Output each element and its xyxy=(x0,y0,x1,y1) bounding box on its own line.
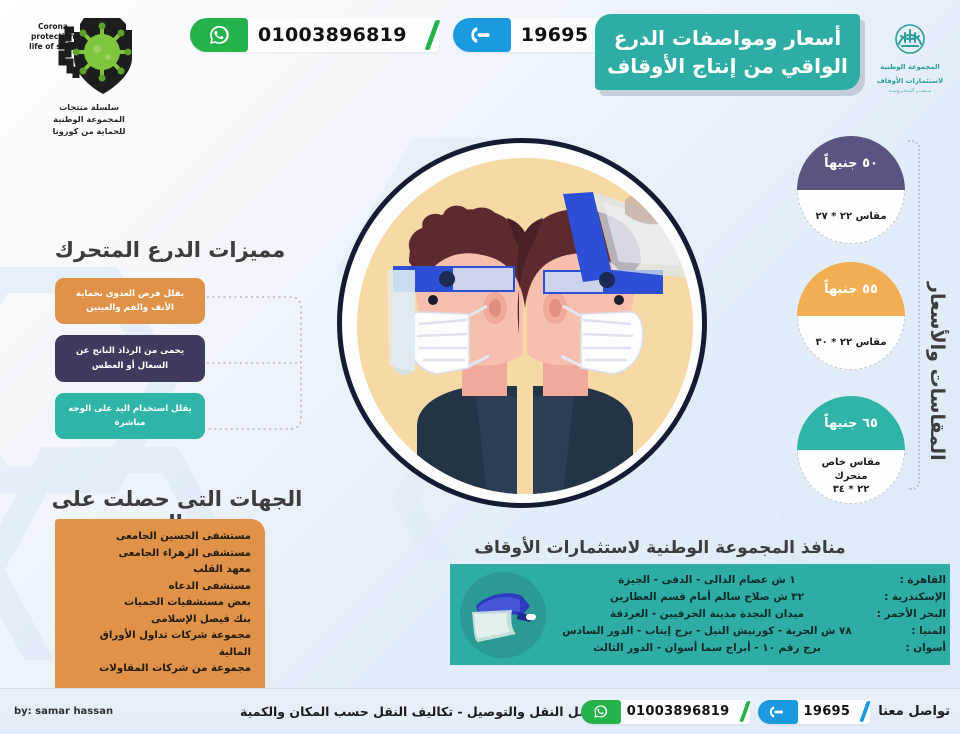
awqaf-logo: المجموعة الوطنية لاستثمارات الأوقاف مــص… xyxy=(866,22,954,94)
outlet-address: ٣٢ ش صلاح سالم أمام قسم العطارين xyxy=(550,589,864,606)
footer-whatsapp-number: 01003896819 xyxy=(621,704,734,719)
outlet-city: المنيا : xyxy=(864,623,946,640)
whatsapp-contact-chip[interactable]: 01003896819 xyxy=(190,18,439,52)
features-connector-lines xyxy=(205,285,335,445)
features-title: مميزات الدرع المتحرك xyxy=(40,238,300,262)
infographic-page: Corona protection life of style سلسلة من… xyxy=(0,0,960,734)
clients-list: مستشفى الحسين الجامعى مستشفى الزهراء الج… xyxy=(55,519,265,690)
whatsapp-icon xyxy=(190,18,248,52)
outlet-address: ١ ش عصام الدالى - الدقى - الجيزة xyxy=(550,572,864,589)
price-card: ٥٠ جنيهاً مقاس ٢٢ * ٢٧ xyxy=(797,136,905,244)
logo-tagline: Corona protection life of style xyxy=(16,22,90,52)
price-card-price: ٦٥ جنيهاً xyxy=(797,396,905,450)
feature-item: يقلل فرص العدوى بحماية الأنف والفم والعي… xyxy=(55,278,205,324)
features-list: يقلل فرص العدوى بحماية الأنف والفم والعي… xyxy=(55,278,205,450)
outlet-city: الإسكندرية : xyxy=(864,589,946,606)
footer-hotline-number: 19695 xyxy=(798,704,855,719)
list-item: بنك فيصل الإسلامى xyxy=(65,612,251,629)
whatsapp-number: 01003896819 xyxy=(248,24,413,46)
logo-tagline-line1: Corona xyxy=(16,22,90,32)
phone-icon xyxy=(453,18,511,52)
footer-contact-label: تواصل معنا xyxy=(878,704,950,719)
sizes-vertical-label-text: المقاسات والأسعار xyxy=(926,282,948,461)
table-row: البحر الأحمر : ميدان النجدة مدينة الحرفي… xyxy=(550,606,946,623)
price-card-spec-line3: ٢٢ * ٣٤ xyxy=(833,483,870,497)
price-rail-decor xyxy=(908,140,920,490)
table-row: المنيا : ٧٨ ش الحرية - كورنيش النيل - بر… xyxy=(550,623,946,640)
footer-credit: by: samar hassan xyxy=(14,706,113,717)
feature-item: يقلل استخدام اليد على الوجه مباشرة xyxy=(55,393,205,439)
outlet-address: ٧٨ ش الحرية - كورنيش النيل - برج إيتاب -… xyxy=(550,623,864,640)
price-card-spec: مقاس خاص متحرك ٢٢ * ٣٤ xyxy=(797,450,905,504)
awqaf-logo-line1: المجموعة الوطنية xyxy=(866,62,954,72)
price-card-price: ٥٠ جنيهاً xyxy=(797,136,905,190)
contact-bar: 01003896819 19695 xyxy=(190,18,620,52)
list-item: مستشفى الدعاه xyxy=(65,579,251,596)
outlets-box: القاهرة : ١ ش عصام الدالى - الدقى - الجي… xyxy=(450,564,950,665)
list-item: مستشفى الزهراء الجامعى xyxy=(65,546,251,563)
logo-arabic-text: سلسلة منتجات المجموعة الوطنية للحماية من… xyxy=(14,102,164,138)
list-item: مجموعة من شركات المقاولات xyxy=(65,661,251,678)
person-left xyxy=(387,206,533,494)
logo-tagline-line2: protection xyxy=(16,32,90,42)
footer-contact: 01003896819 19695 تواصل معنا xyxy=(581,700,950,724)
price-card-spec-line1: مقاس خاص xyxy=(822,456,881,470)
list-item: معهد القلب xyxy=(65,562,251,579)
footer-hotline-chip[interactable]: 19695 xyxy=(758,700,871,724)
awqaf-calligraphy-icon xyxy=(889,22,931,58)
outlets-title: منافذ المجموعة الوطنية لاستثمارات الأوقا… xyxy=(450,538,870,558)
feature-item-text: يقلل استخدام اليد على الوجه مباشرة xyxy=(65,402,195,430)
chip-slash-decor xyxy=(859,701,871,722)
list-item: بعض مستشفيات الحميات xyxy=(65,595,251,612)
chip-slash-decor xyxy=(424,20,440,50)
logo-arabic-line1: سلسلة منتجات xyxy=(14,102,164,114)
outlet-city: أسوان : xyxy=(864,640,946,657)
price-card-spec-line2: متحرك xyxy=(835,470,868,484)
two-people-with-face-shields-graphic xyxy=(357,158,693,494)
price-card-spec: مقاس ٢٢ * ٢٧ xyxy=(797,190,905,244)
outlet-city: القاهرة : xyxy=(864,572,946,589)
footer-bar: by: samar hassan السعر غير شامل النقل وا… xyxy=(0,688,960,734)
page-title-line1: أسعار ومواصفات الدرع xyxy=(607,24,848,52)
logo-arabic-line2: المجموعة الوطنية xyxy=(14,114,164,126)
table-row: القاهرة : ١ ش عصام الدالى - الدقى - الجي… xyxy=(550,572,946,589)
sizes-vertical-label: المقاسات والأسعار xyxy=(922,246,952,496)
logo-tagline-line3: life of style xyxy=(16,42,90,52)
price-card: ٦٥ جنيهاً مقاس خاص متحرك ٢٢ * ٣٤ xyxy=(797,396,905,504)
phone-icon xyxy=(758,700,798,724)
face-shield-icon xyxy=(460,572,546,658)
awqaf-logo-line2: لاستثمارات الأوقاف xyxy=(866,76,954,86)
chip-slash-decor xyxy=(739,701,751,722)
feature-item-text: يحمى من الرذاذ الناتج عن السعال أو العطس xyxy=(65,344,195,372)
feature-item: يحمى من الرذاذ الناتج عن السعال أو العطس xyxy=(55,335,205,381)
face-shield-illustration xyxy=(337,138,707,508)
price-card: ٥٥ جنيهاً مقاس ٢٢ * ٣٠ xyxy=(797,262,905,370)
price-card-spec-line1: مقاس ٢٢ * ٢٧ xyxy=(815,210,886,224)
table-row: أسوان : برج رقم ١٠ - أبراج سما أسوان - ا… xyxy=(550,640,946,657)
outlet-address: برج رقم ١٠ - أبراج سما أسوان - الدور الث… xyxy=(550,640,864,657)
person-right xyxy=(517,180,687,494)
price-card-spec: مقاس ٢٢ * ٣٠ xyxy=(797,316,905,370)
logo-arabic-line3: للحماية من كورونا xyxy=(14,126,164,138)
hotline-number: 19695 xyxy=(511,24,595,46)
whatsapp-icon xyxy=(581,700,621,724)
awqaf-logo-line3: مــصــر المـحـروسـة xyxy=(866,88,954,94)
outlet-address: ميدان النجدة مدينة الحرفيين - الغردقة xyxy=(550,606,864,623)
list-item: مجموعة شركات تداول الأوراق المالية xyxy=(65,628,251,661)
price-card-spec-line1: مقاس ٢٢ * ٣٠ xyxy=(815,336,886,350)
page-title: أسعار ومواصفات الدرع الواقي من إنتاج الأ… xyxy=(595,14,860,90)
outlet-city: البحر الأحمر : xyxy=(864,606,946,623)
page-title-line2: الواقي من إنتاج الأوقاف xyxy=(607,52,848,80)
feature-item-text: يقلل فرص العدوى بحماية الأنف والفم والعي… xyxy=(65,287,195,315)
price-card-price: ٥٥ جنيهاً xyxy=(797,262,905,316)
brand-logo: Corona protection life of style سلسلة من… xyxy=(14,8,164,138)
table-row: الإسكندرية : ٣٢ ش صلاح سالم أمام قسم الع… xyxy=(550,589,946,606)
outlets-table: القاهرة : ١ ش عصام الدالى - الدقى - الجي… xyxy=(550,572,950,656)
list-item: مستشفى الحسين الجامعى xyxy=(65,529,251,546)
footer-whatsapp-chip[interactable]: 01003896819 xyxy=(581,700,750,724)
